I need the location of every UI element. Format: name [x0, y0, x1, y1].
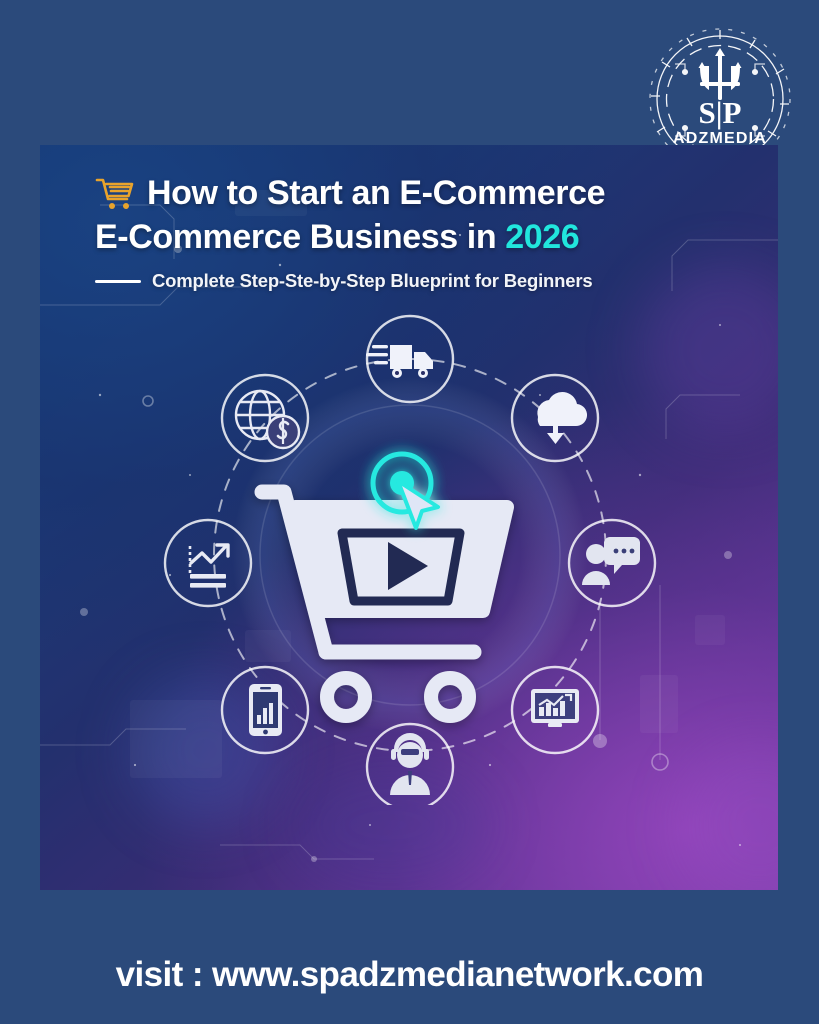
ecommerce-diagram — [150, 305, 670, 805]
page-title-year: 2026 — [505, 218, 579, 256]
footer-url[interactable]: visit : www.spadzmedianetwork.com — [0, 955, 819, 995]
poster-canvas: S|P ADZMEDIA NETWORK — [0, 0, 819, 1024]
trident-icon — [699, 48, 742, 100]
page-title-line1: How to Start an E-Commerce — [147, 173, 605, 213]
support-agent-icon — [390, 733, 430, 795]
page-subtitle: Complete Step-Ste-by-Step Blueprint for … — [152, 270, 592, 292]
subtitle-dash — [95, 280, 141, 283]
heading-block: How to Start an E-Commerce E-Commerce Bu… — [95, 173, 755, 292]
node-global[interactable] — [222, 375, 308, 461]
growth-arrow-chart-icon — [190, 545, 228, 588]
page-title-line2-text: E-Commerce Business in — [95, 218, 505, 256]
node-analytics[interactable] — [512, 667, 598, 753]
user-chat-bubble-icon — [582, 537, 640, 585]
node-cloud[interactable] — [512, 375, 598, 461]
mobile-chart-icon — [249, 684, 282, 736]
monitor-chart-icon — [531, 689, 579, 727]
node-support[interactable] — [367, 724, 453, 805]
hero-panel: How to Start an E-Commerce E-Commerce Bu… — [40, 145, 778, 890]
shopping-cart-icon — [95, 175, 135, 211]
page-title-line2: E-Commerce Business in 2026 — [95, 217, 755, 257]
logo-letters: S|P — [698, 95, 741, 130]
node-mobile[interactable] — [222, 667, 308, 753]
cloud-download-icon — [537, 392, 587, 444]
delivery-truck-icon — [366, 345, 433, 378]
